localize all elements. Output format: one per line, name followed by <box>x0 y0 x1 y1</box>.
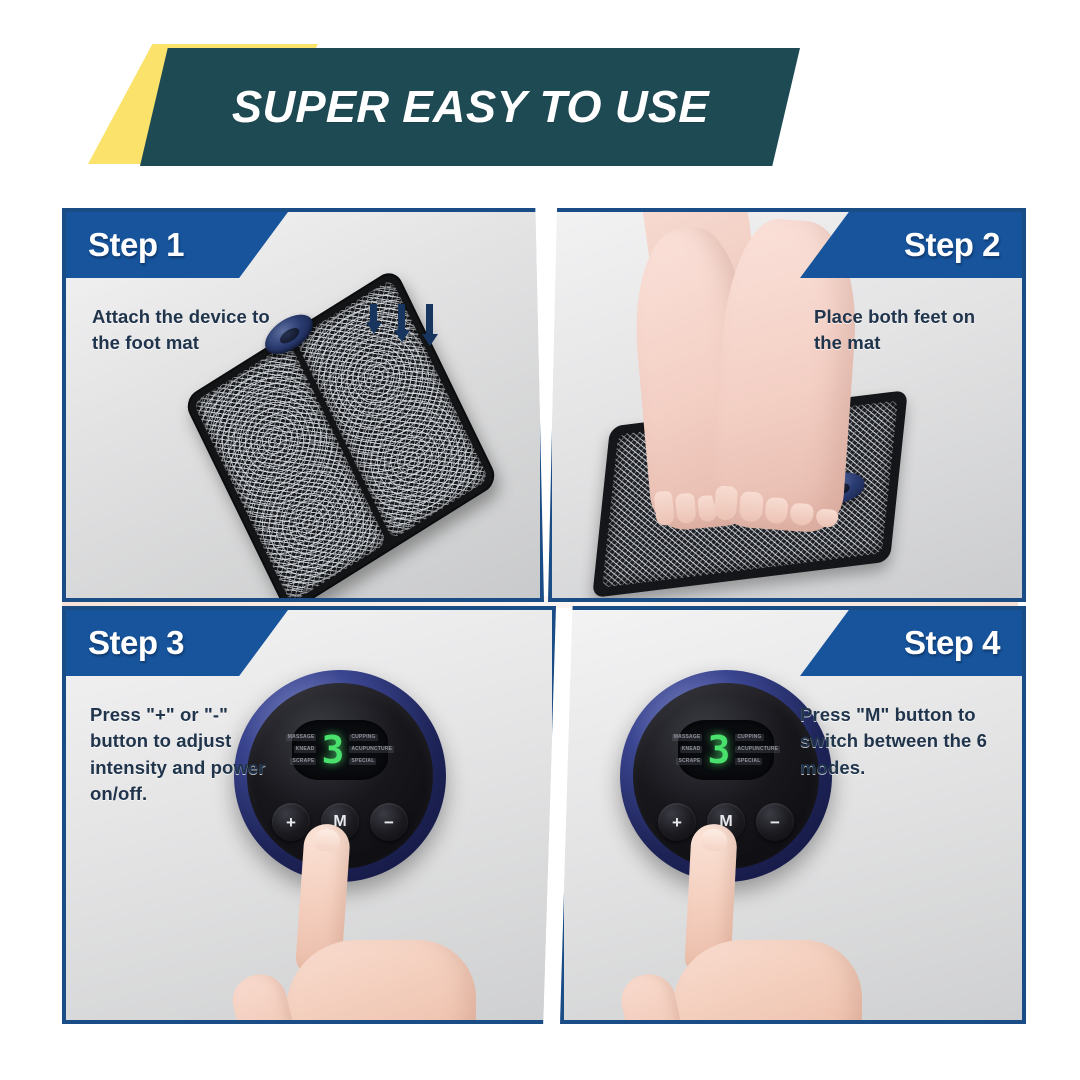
mode-labels-right: CUPPING ACUPUNCTURE SPECIAL <box>349 734 394 765</box>
arrow-down-icon <box>394 304 409 342</box>
mode-labels-left: MASSAGE KNEAD SCRAPE <box>286 734 317 765</box>
mode-label: CUPPING <box>349 734 377 741</box>
mode-label: MASSAGE <box>672 734 703 741</box>
panel-step-2-inner: Step 2 Place both feet on the mat <box>552 212 1022 598</box>
mode-label: CUPPING <box>735 734 763 741</box>
mode-label: ACUPUNCTURE <box>349 746 394 753</box>
plus-button[interactable]: + <box>272 803 310 841</box>
panel-step-1-inner: Step 1 Attach the device to the foot mat <box>66 212 540 598</box>
mode-label: SCRAPE <box>676 758 702 765</box>
toes-right <box>714 485 840 528</box>
mode-labels-right: CUPPING ACUPUNCTURE SPECIAL <box>735 734 780 765</box>
mode-label: ACUPUNCTURE <box>735 746 780 753</box>
page-title: SUPER EASY TO USE <box>231 81 709 133</box>
header-banner: SUPER EASY TO USE <box>0 0 1080 190</box>
minus-button[interactable]: − <box>370 803 408 841</box>
intensity-level-value: 3 <box>321 733 344 767</box>
step-tab-label-2: Step 2 <box>904 226 1000 264</box>
step-tab-label-4: Step 4 <box>904 624 1000 662</box>
remote-display: MASSAGE KNEAD SCRAPE 3 CUPPING ACUPUNCTU… <box>678 720 775 780</box>
arrow-down-icon <box>366 304 381 334</box>
arrow-down-icon <box>422 304 437 346</box>
mode-label: MASSAGE <box>286 734 317 741</box>
step-caption-1: Attach the device to the foot mat <box>92 304 292 357</box>
remote-display: MASSAGE KNEAD SCRAPE 3 CUPPING ACUPUNCTU… <box>292 720 389 780</box>
mode-label: KNEAD <box>294 746 317 753</box>
panel-step-4-inner: MASSAGE KNEAD SCRAPE 3 CUPPING ACUPUNCTU… <box>564 610 1022 1020</box>
palm <box>672 940 862 1024</box>
palm <box>286 940 476 1024</box>
steps-grid: Step 1 Attach the device to the foot mat <box>62 208 1018 1016</box>
mode-label: KNEAD <box>680 746 703 753</box>
panel-step-3[interactable]: MASSAGE KNEAD SCRAPE 3 CUPPING ACUPUNCTU… <box>62 606 556 1024</box>
panel-step-2[interactable]: Step 2 Place both feet on the mat <box>548 208 1026 602</box>
mode-labels-left: MASSAGE KNEAD SCRAPE <box>672 734 703 765</box>
attach-direction-arrows <box>366 304 437 346</box>
intensity-level-value: 3 <box>707 733 730 767</box>
mode-label: SPECIAL <box>735 758 762 765</box>
panel-step-4[interactable]: MASSAGE KNEAD SCRAPE 3 CUPPING ACUPUNCTU… <box>560 606 1026 1024</box>
panel-step-1[interactable]: Step 1 Attach the device to the foot mat <box>62 208 544 602</box>
plus-button[interactable]: + <box>658 803 696 841</box>
step-tab-label-3: Step 3 <box>88 624 184 662</box>
step-caption-2: Place both feet on the mat <box>814 304 1000 357</box>
panel-step-3-inner: MASSAGE KNEAD SCRAPE 3 CUPPING ACUPUNCTU… <box>66 610 552 1020</box>
step-caption-4: Press "M" button to switch between the 6… <box>800 702 1000 781</box>
mode-label: SPECIAL <box>349 758 376 765</box>
minus-button[interactable]: − <box>756 803 794 841</box>
step-tab-label-1: Step 1 <box>88 226 184 264</box>
banner-teal-shape: SUPER EASY TO USE <box>140 48 800 166</box>
step-caption-3: Press "+" or "-" button to adjust intens… <box>90 702 286 807</box>
mode-label: SCRAPE <box>290 758 316 765</box>
